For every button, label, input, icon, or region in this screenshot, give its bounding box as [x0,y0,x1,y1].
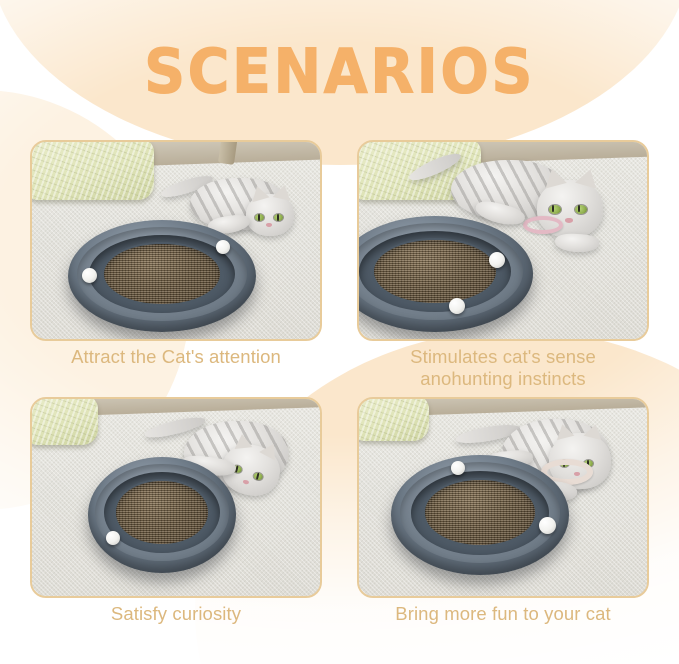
scenario-photo [30,397,322,598]
scenario-card-curiosity[interactable]: Satisfy curiosity [30,397,322,598]
scenario-grid: Attract the Cat's attention [30,140,649,640]
toy-scratch-pad [425,480,535,545]
toy-ball-1 [106,531,120,545]
cat-ear-left [554,422,575,440]
cat-ear-right [273,183,294,200]
scenario-photo [357,397,649,598]
cat-nose [243,479,250,484]
cat-nose [266,223,272,227]
toy-ball-2 [539,517,556,534]
toy-ball-1 [451,461,465,475]
green-cushion [30,140,154,200]
toy-scratch-pad [104,244,221,304]
cat-nose [565,218,573,223]
cat-scratcher-toy [68,220,256,332]
scenario-card-attract[interactable]: Attract the Cat's attention [30,140,322,341]
cat-scratcher-toy [391,455,569,575]
cat-eye-left [549,205,561,214]
cat-scratcher-toy [357,216,533,332]
scenario-caption: Bring more fun to your cat [351,603,655,625]
toy-ball-2 [449,298,465,314]
green-cushion [30,397,98,445]
scenario-card-stimulate[interactable]: Stimulates cat's sense anohunting instin… [357,140,649,341]
toy-ball-2 [216,240,230,254]
cat-eye-right [575,205,587,214]
toy-ball-1 [82,268,97,283]
cat-scratcher-toy [88,457,236,573]
cat-eye-right [274,214,283,221]
scenario-card-fun[interactable]: Bring more fun to your cat [357,397,649,598]
page-title: SCENARIOS [144,42,535,104]
cat-ear-right [584,422,605,440]
toy-scratch-pad [116,481,208,544]
cat-ear-left [233,433,252,449]
scenario-caption: Attract the Cat's attention [24,346,328,368]
cat-eye-right [253,472,263,481]
scenario-caption: Stimulates cat's sense anohunting instin… [351,346,655,390]
cat-eye-left [255,214,264,221]
scenario-caption: Satisfy curiosity [24,603,328,625]
title-container: SCENARIOS [0,44,679,101]
toy-ball-1 [489,252,505,268]
green-cushion [357,397,429,441]
scenario-photo [357,140,649,341]
scenario-photo [30,140,322,341]
toy-scratch-pad [374,240,496,303]
